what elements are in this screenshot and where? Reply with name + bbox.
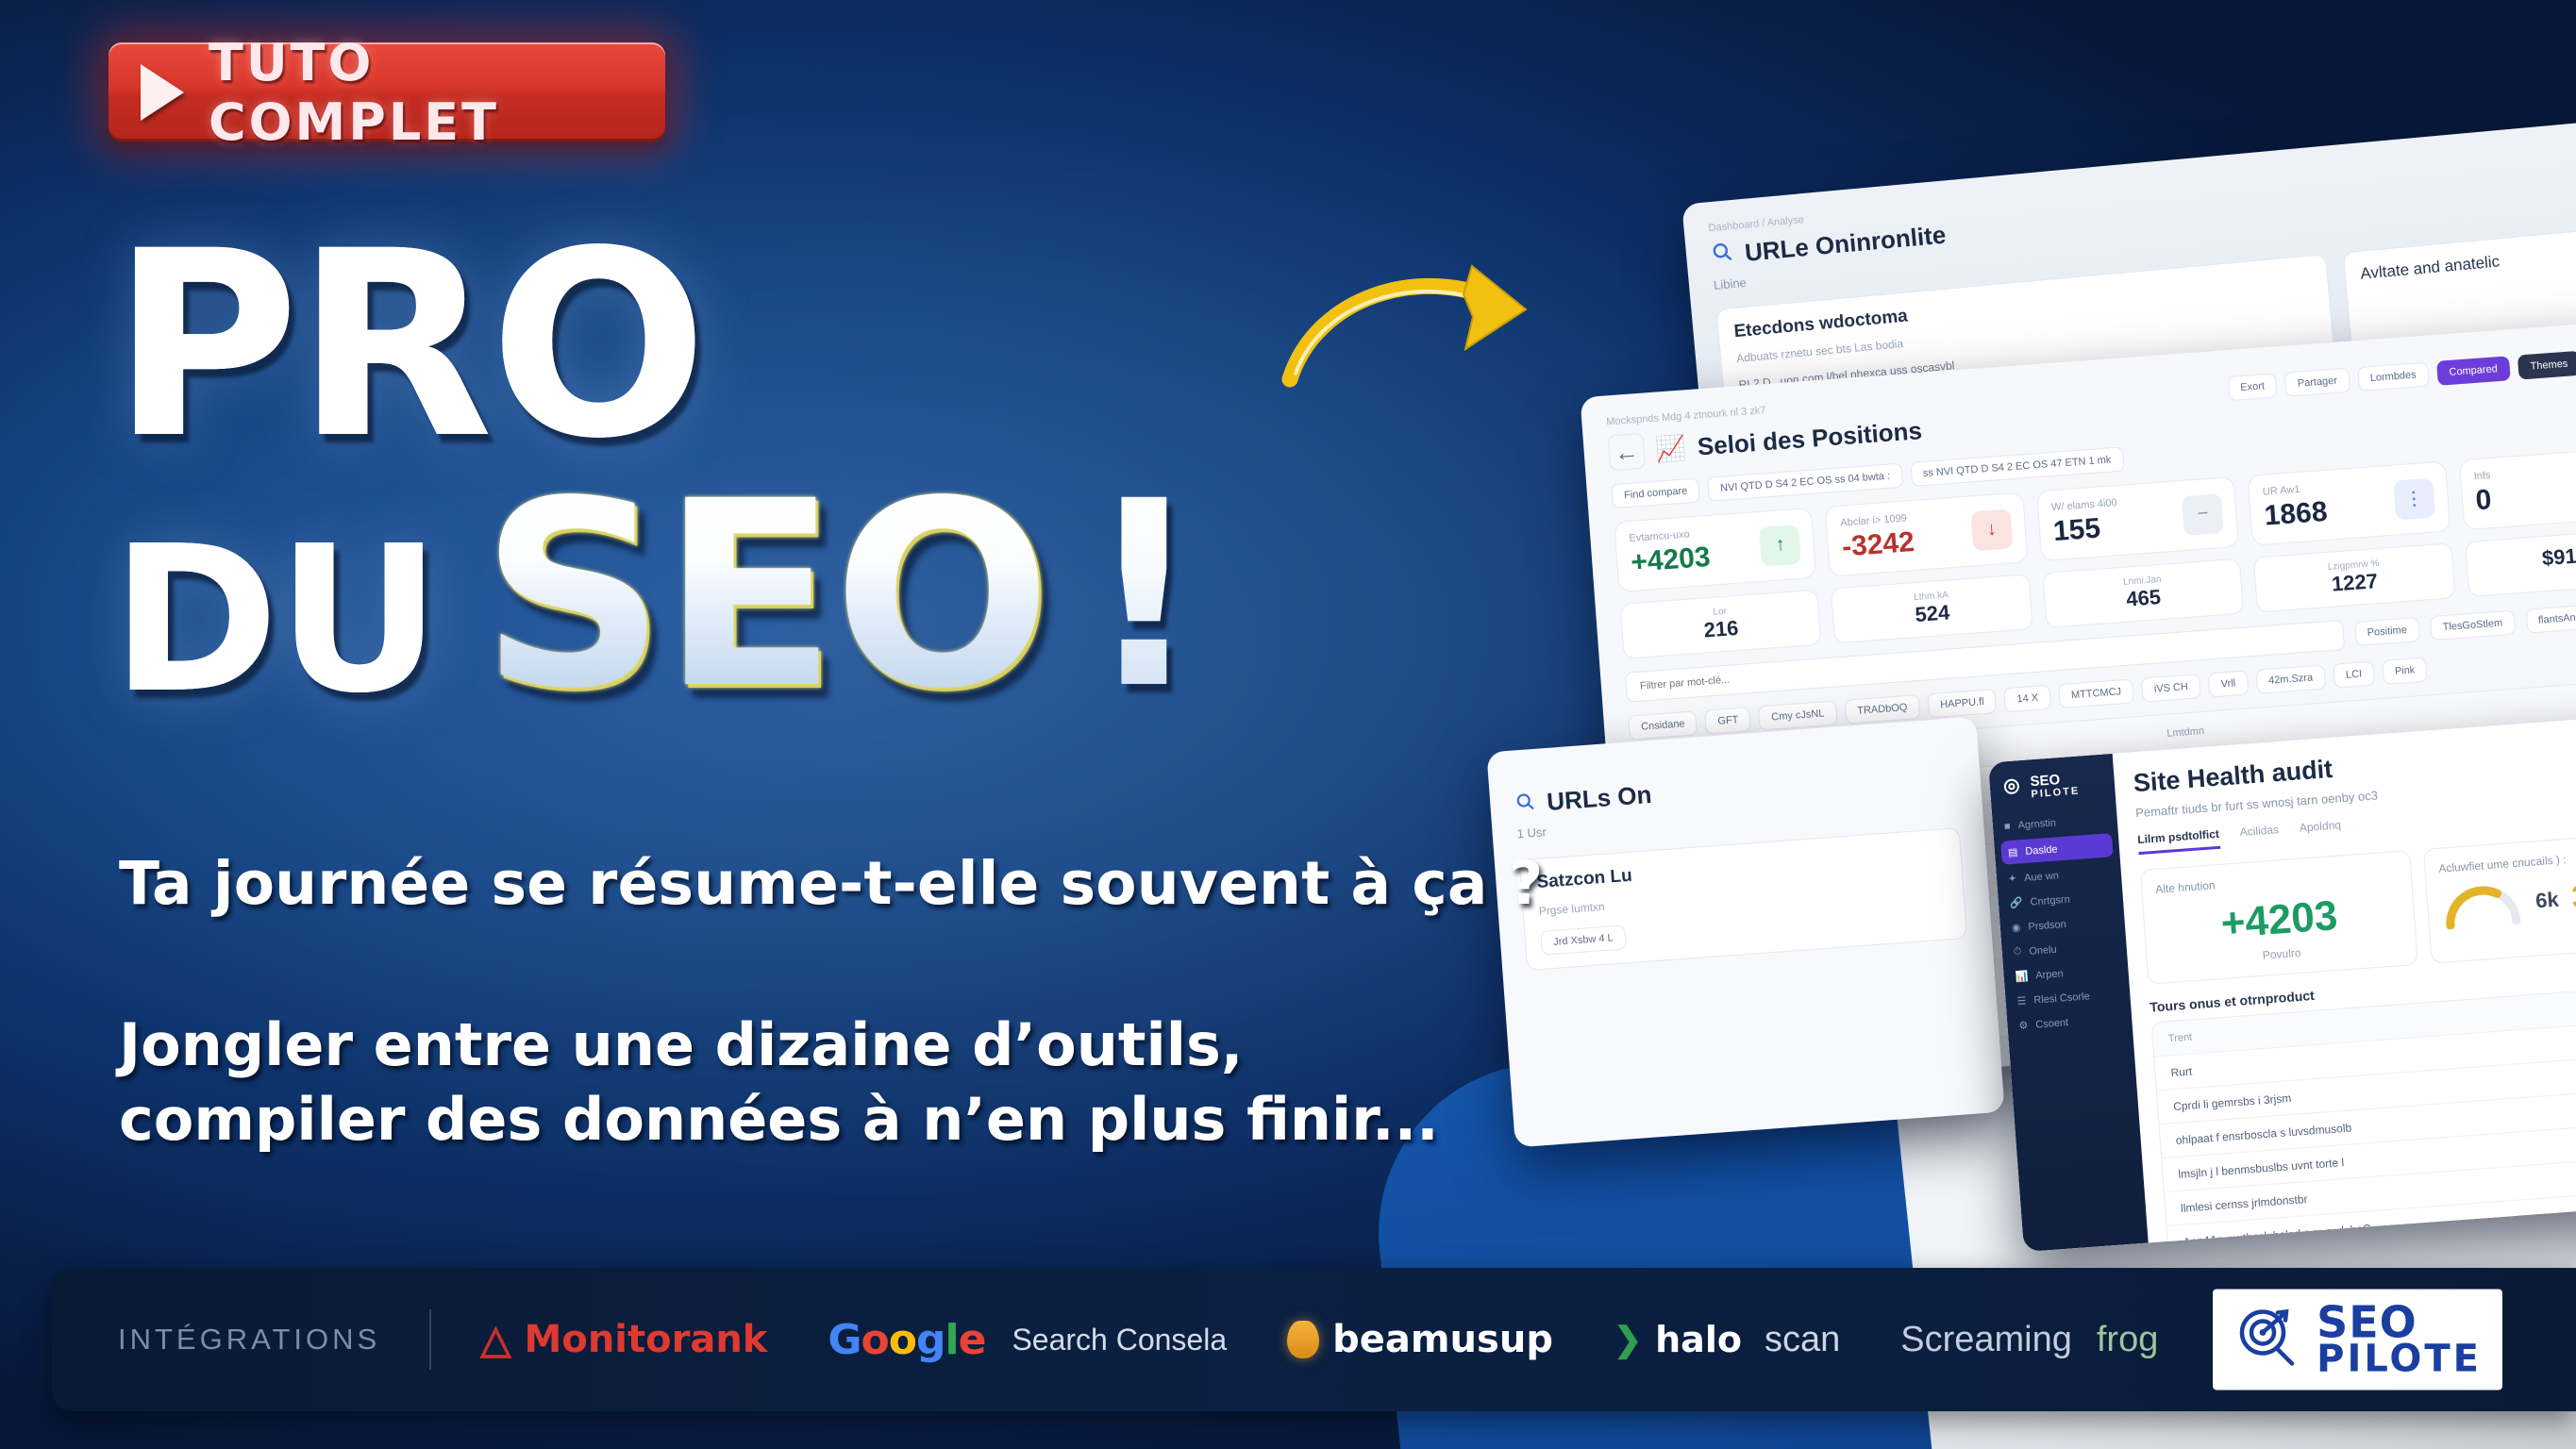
headline-word-pro: PRO	[111, 234, 704, 459]
halo-suffix-label: scan	[1765, 1320, 1840, 1360]
screamingfrog-suffix-label: frog	[2097, 1320, 2158, 1360]
toolbar-chip[interactable]: Partager	[2284, 368, 2350, 397]
sidebar-brand-line2: PILOTE	[2031, 786, 2080, 799]
google-wordmark: Google	[828, 1316, 985, 1364]
kpi2-card[interactable]: $917	[2465, 527, 2576, 597]
kpi-card[interactable]: Infs 0 ◇	[2458, 445, 2576, 530]
mock-left-card[interactable]: Satzcon Lu Prgse lumtxn Jrd Xsbw 4 L	[1519, 827, 1967, 971]
paragraph: Jongler entre une dizaine d’outils, comp…	[119, 1008, 1439, 1158]
col-bar	[2422, 693, 2576, 723]
poster: Dashboard / Analyse URLe Oninronlite Lib…	[0, 0, 2576, 1449]
kpi-card[interactable]: Evtamcu-uxo +4203 ↑	[1614, 508, 1816, 592]
target-dart-magnifier-icon	[2233, 1303, 2301, 1375]
gauge-number: 394	[2570, 876, 2576, 917]
sidebar-item-2[interactable]: ✦Aue wn	[2008, 866, 2111, 886]
headline-word-seo: SEO	[480, 484, 1047, 709]
filter-chip[interactable]: HAPPU.fl	[1927, 689, 1997, 718]
list-icon: ☰	[2016, 995, 2027, 1008]
sidebar-nav: ■Agrnstin ▤Daslde ✦Aue wn 🔗Cnrtgsrn ◉Prs…	[2004, 814, 2121, 1032]
tab-1[interactable]: Acilidas	[2239, 823, 2280, 847]
row-score: 156	[2537, 1135, 2576, 1154]
subtitle: Ta journée se résume-t-elle souvent à ça…	[119, 849, 1544, 918]
sidebar-item-8[interactable]: ⚙Csoent	[2018, 1012, 2121, 1032]
filter-chip[interactable]: Positime	[2354, 617, 2420, 646]
screamingfrog-label: Screaming	[1900, 1320, 2072, 1360]
paragraph-line-1: Jongler entre une dizaine d’outils,	[119, 1008, 1439, 1082]
sidebar-label: Arpen	[2035, 968, 2064, 981]
headline-word-du: DU	[111, 532, 439, 709]
search-icon	[1514, 789, 1536, 820]
col-pct: Lmtdmn	[2095, 725, 2204, 744]
filter-chip[interactable]: GFT	[1705, 707, 1752, 734]
kpi-value: 155	[2052, 511, 2120, 548]
logo-beamusup[interactable]: beamusup	[1287, 1318, 1553, 1361]
kpi2-card[interactable]: Lthm.kA 524	[1831, 574, 2032, 643]
health-gauge-label: Acluwfiet ume cnucails ) :	[2438, 844, 2576, 875]
gauge-icon: ◉	[2011, 922, 2021, 935]
kpi2-value: $917	[2480, 539, 2576, 575]
mock-main-title-text: Seloi des Positions	[1697, 416, 1923, 461]
kpi-card[interactable]: UR Aw1 1868 ⋮	[2248, 460, 2451, 545]
headline-line-1: PRO	[111, 234, 1202, 459]
kpi-label: Infs	[2473, 470, 2491, 482]
filter-chip[interactable]: TlesGoStlem	[2430, 610, 2516, 641]
kpi2-card[interactable]: Lnmi.Jan 465	[2042, 558, 2244, 628]
sidebar-item-5[interactable]: ⏱Onelu	[2013, 939, 2116, 958]
sidebar-label: Agrnstin	[2017, 818, 2056, 832]
row-score: 317	[2530, 1034, 2576, 1053]
col-pill	[2216, 717, 2287, 738]
sidebar-item-7[interactable]: ☰Rlesi Csorle	[2016, 988, 2119, 1008]
mock-urls-panel[interactable]: URLs On 1 Usr Satzcon Lu Prgse lumtxn Jr…	[1486, 717, 2004, 1148]
logo-halo-scan[interactable]: ❯ halo scan	[1614, 1319, 1840, 1360]
toolbar-chip[interactable]: Lormbdes	[2357, 362, 2430, 391]
integrations-label: INTÉGRATIONS	[118, 1323, 380, 1357]
clock-icon: ⏱	[2013, 946, 2022, 959]
monitorank-mark-icon: △	[480, 1320, 510, 1359]
sidebar-label: Aue wn	[2024, 870, 2059, 884]
mock-site-health-panel[interactable]: SEO PILOTE ■Agrnstin ▤Daslde ✦Aue wn 🔗Cn…	[1988, 710, 2576, 1252]
seo-pilote-brand-logo[interactable]: SEO PILOTE	[2213, 1289, 2502, 1390]
filter-chip[interactable]: 42m.Szra	[2255, 664, 2326, 693]
tuto-complet-label: TUTO COMPLET	[209, 33, 633, 152]
kpi-label: UR Aw1	[2263, 482, 2326, 498]
beamusup-mark-icon	[1287, 1321, 1319, 1358]
logo-screaming-frog[interactable]: Screaming frog	[1900, 1320, 2158, 1360]
sidebar-brand: SEO PILOTE	[2000, 770, 2104, 803]
chart-icon: 📊	[2015, 970, 2029, 983]
play-icon	[141, 64, 184, 121]
sliders-icon: ⋮	[2393, 477, 2435, 520]
paragraph-line-2: compiler des données à n’en plus finir..…	[119, 1082, 1439, 1157]
sidebar-label: Prsdson	[2028, 919, 2066, 933]
filter-chip[interactable]: Vrll	[2208, 670, 2249, 697]
col-score: Score	[2528, 1001, 2576, 1018]
filter-chip[interactable]: Pink	[2382, 658, 2428, 685]
search-icon	[1710, 240, 1735, 271]
headline-block: PRO DU SEO !	[111, 234, 1202, 710]
filter-chip[interactable]: LCI	[2333, 661, 2375, 689]
tab-0[interactable]: Lilrm psdtolfict	[2137, 827, 2220, 855]
kpi2-card[interactable]: Lzigpmrw % 1227	[2253, 542, 2455, 612]
sidebar-item-4[interactable]: ◉Prsdson	[2011, 915, 2114, 935]
integrations-footer: INTÉGRATIONS △ Monitorank Google Search …	[52, 1268, 2576, 1411]
filter-chip[interactable]: ss NVI QTD D S4 2 EC OS 47 ETN 1 mk	[1910, 447, 2124, 487]
filter-chip[interactable]: TRADbOQ	[1844, 694, 1920, 724]
toolbar-chip[interactable]: Compared	[2436, 356, 2511, 386]
filter-chip[interactable]: 14 X	[2004, 685, 2051, 712]
sidebar-item-0[interactable]: ■Agrnstin	[2004, 814, 2107, 833]
kpi2-card[interactable]: Lor 216	[1620, 590, 1822, 659]
gear-icon: ⚙	[2018, 1019, 2029, 1032]
dashboard-icon: ▤	[2008, 846, 2018, 859]
headline-line-2: DU SEO !	[111, 484, 1202, 709]
row-score: 548	[2533, 1068, 2576, 1087]
sidebar-label: Rlesi Csorle	[2033, 991, 2090, 1006]
health-table: Trent Score Rurt 317 Cprdi li gemrsbs i …	[2151, 982, 2576, 1253]
filter-chip[interactable]: NVI QTD D S4 2 EC OS ss 04 bwta :	[1707, 463, 1903, 502]
filter-chip[interactable]: Cnsidane	[1628, 710, 1698, 740]
halo-chevron-icon: ❯	[1614, 1320, 1642, 1359]
filter-chip[interactable]: Cmy cJsNL	[1758, 700, 1837, 730]
brand-line-1: SEO	[2317, 1302, 2482, 1341]
toolbar-chip[interactable]: Exort	[2227, 373, 2277, 401]
mock-card-b-title: Avltate and anatelic	[2360, 239, 2576, 284]
health-score-card[interactable]: Alte hnution +4203 Povulro	[2140, 850, 2418, 985]
kpi-card[interactable]: Abclar i> 1099 -3242 ↓	[1825, 491, 2028, 576]
filter-chip[interactable]: flantsAn	[2525, 605, 2576, 634]
kpi-card[interactable]: W/ elams 4i00 155 −	[2036, 476, 2239, 561]
curved-arrow-icon	[1279, 247, 1562, 408]
back-arrow-icon[interactable]: ←	[1607, 433, 1646, 472]
monitorank-label: Monitorank	[525, 1318, 768, 1361]
google-suffix-label: Search Consela	[1012, 1323, 1227, 1357]
filter-chip[interactable]: MTTCMCJ	[2058, 678, 2134, 708]
link-icon: 🔗	[2010, 897, 2024, 910]
filter-chip[interactable]: Find compare	[1611, 477, 1700, 508]
row-score: 347	[2535, 1101, 2576, 1120]
brand-line-2: PILOTE	[2317, 1342, 2482, 1377]
col-n	[2004, 740, 2083, 745]
kpi-value: 0	[2474, 484, 2493, 517]
tuto-complet-badge[interactable]: TUTO COMPLET	[109, 42, 665, 142]
sidebar-label: Onelu	[2029, 944, 2057, 958]
target-icon	[2000, 775, 2025, 803]
mock-left-title-text: URLs On	[1546, 780, 1652, 817]
footer-divider	[429, 1309, 431, 1370]
headline-word-bang: !	[1085, 484, 1202, 709]
col-a	[2300, 716, 2410, 724]
gauge-icon	[2439, 875, 2524, 935]
minus-icon: −	[2182, 492, 2224, 535]
sidebar-label: Csoent	[2035, 1017, 2069, 1031]
row-score: 730	[2540, 1169, 2576, 1188]
logo-monitorank[interactable]: △ Monitorank	[480, 1318, 767, 1361]
sidebar-item-3[interactable]: 🔗Cnrtgsrn	[2010, 891, 2113, 910]
integration-logos: △ Monitorank Google Search Consela beamu…	[480, 1316, 2158, 1364]
sidebar-label: Daslde	[2025, 843, 2058, 857]
arrow-up-icon: ↑	[1759, 524, 1801, 566]
mock-left-card-item[interactable]: Jrd Xsbw 4 L	[1540, 924, 1626, 955]
halo-label: halo	[1655, 1319, 1742, 1360]
sidebar-item-1[interactable]: ▤Daslde	[2000, 833, 2114, 865]
kpi-value: 1868	[2264, 496, 2329, 533]
arrow-down-icon: ↓	[1970, 508, 2013, 551]
kpi-value: +4203	[1630, 541, 1712, 579]
gauge-value: 6k	[2534, 887, 2559, 913]
tab-2[interactable]: Apoldnq	[2299, 818, 2342, 842]
logo-google-search-console[interactable]: Google Search Consela	[828, 1316, 1227, 1364]
sidebar-item-6[interactable]: 📊Arpen	[2015, 963, 2117, 983]
toolbar-chip[interactable]: Themes	[2517, 351, 2576, 380]
wand-icon: ✦	[2008, 873, 2017, 886]
beamusup-label: beamusup	[1332, 1318, 1553, 1361]
filter-chip[interactable]: iVS CH	[2141, 674, 2201, 702]
health-gauge-card[interactable]: Acluwfiet ume cnucails ) : 6k 394 Vndp d…	[2423, 829, 2576, 964]
grid-icon: ■	[2004, 821, 2012, 832]
kpi-value: -3242	[1841, 526, 1915, 564]
chart-icon: 📈	[1655, 433, 1688, 464]
sidebar-label: Cnrtgsrn	[2030, 893, 2070, 908]
kpi-label: W/ elams 4i00	[2051, 497, 2117, 513]
